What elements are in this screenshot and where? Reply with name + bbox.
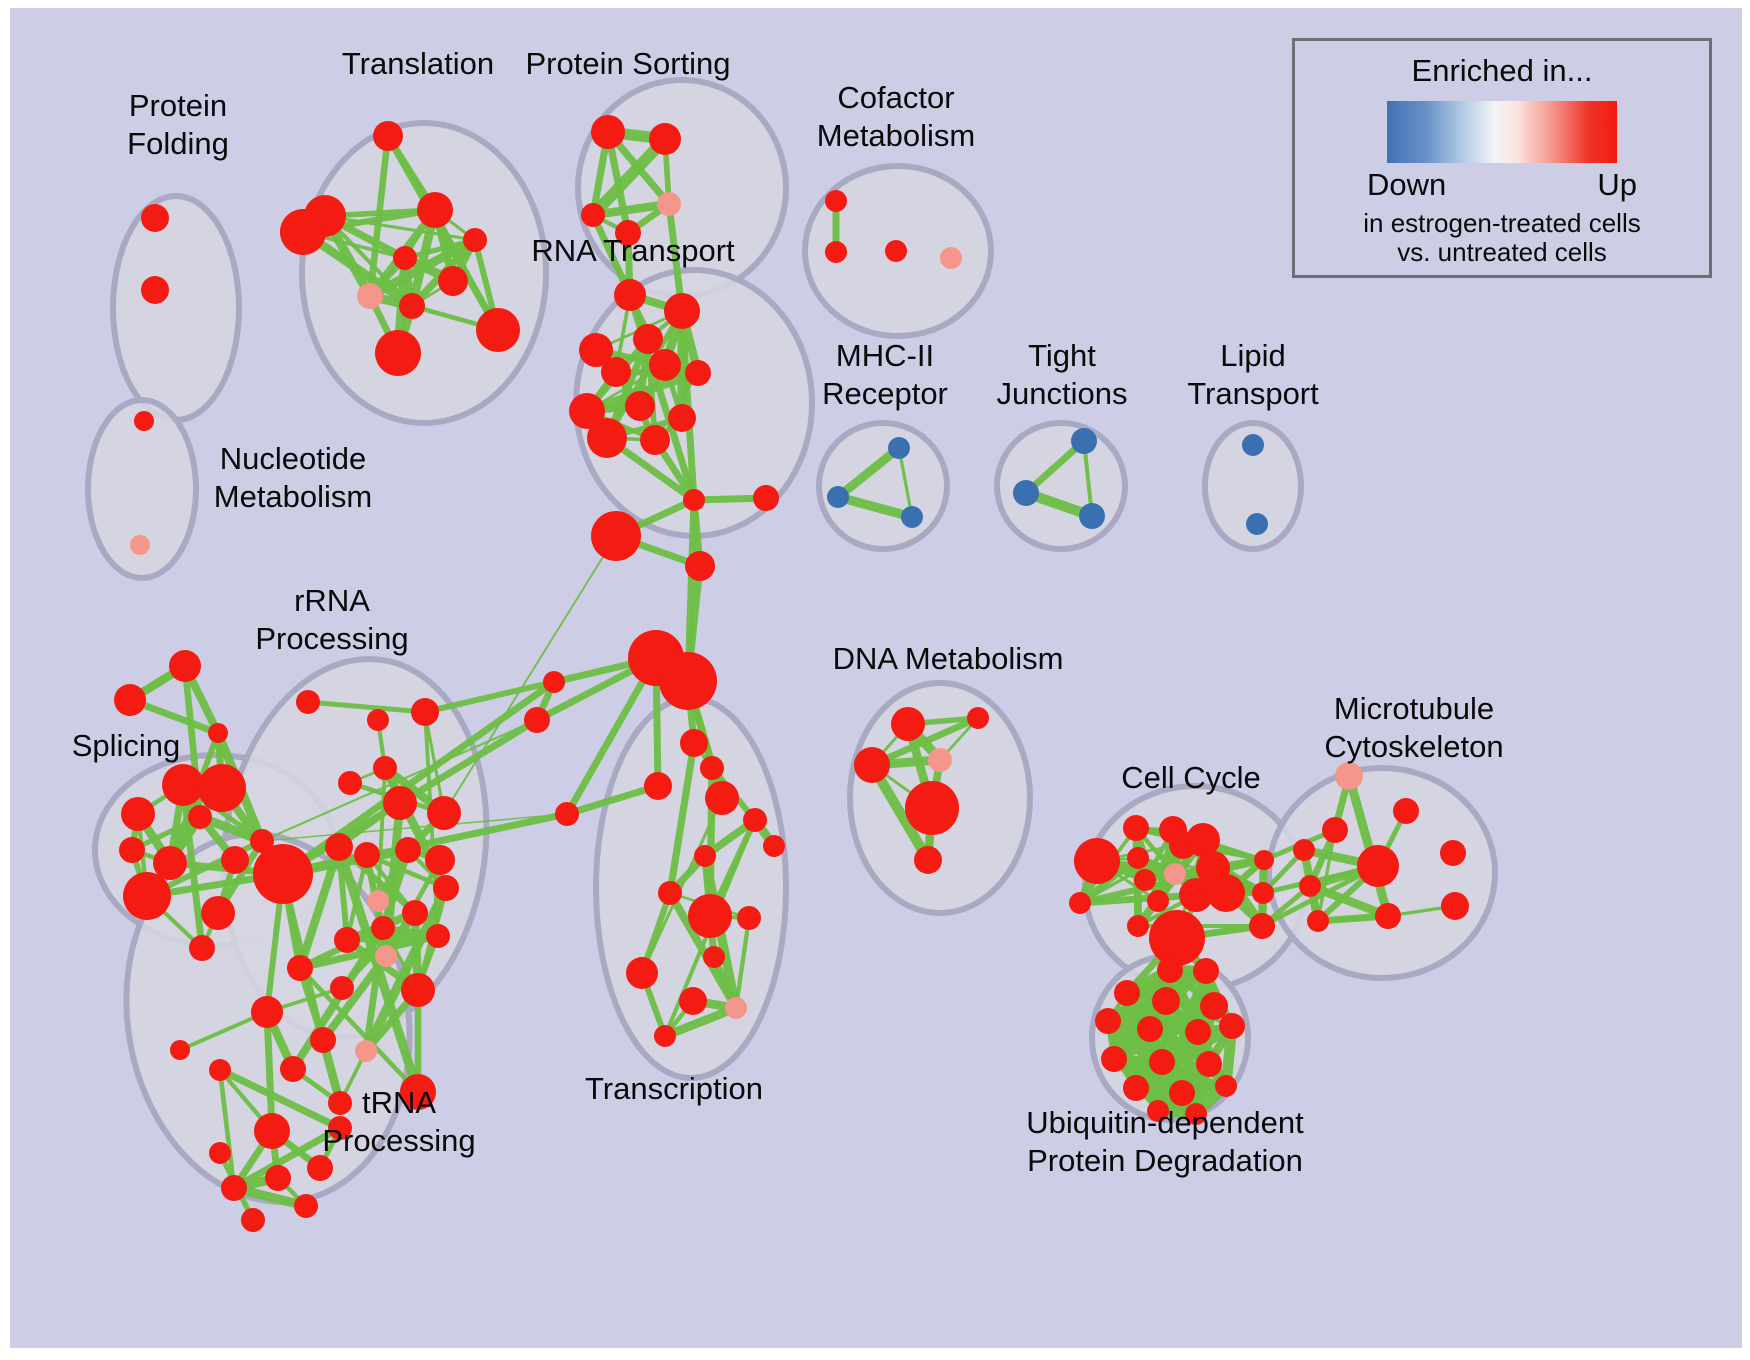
network-node (524, 707, 550, 733)
network-node (114, 684, 146, 716)
network-node (121, 797, 155, 831)
network-node (914, 846, 942, 874)
network-node (1215, 1075, 1237, 1097)
legend-title: Enriched in... (1295, 53, 1709, 89)
network-node (1149, 1049, 1175, 1075)
network-node (703, 946, 725, 968)
network-node (1200, 992, 1228, 1020)
network-node (1249, 913, 1275, 939)
network-node (1299, 875, 1321, 897)
network-node (433, 875, 459, 901)
network-node (123, 872, 171, 920)
network-node (1393, 798, 1419, 824)
network-node (743, 808, 767, 832)
network-node (296, 690, 320, 714)
network-node (198, 764, 246, 812)
network-node (555, 802, 579, 826)
network-node (265, 1165, 291, 1191)
network-node (325, 833, 353, 861)
network-node (1147, 890, 1169, 912)
network-node (625, 391, 655, 421)
network-node (1013, 480, 1039, 506)
network-node (649, 349, 681, 381)
network-node (633, 324, 663, 354)
network-node (1219, 1013, 1245, 1039)
network-node (659, 652, 717, 710)
cluster-label-transcription: Transcription (585, 1071, 763, 1106)
network-node (209, 1059, 231, 1081)
network-node (330, 976, 354, 1000)
network-node (1152, 987, 1180, 1015)
network-node (130, 535, 150, 555)
network-node (411, 698, 439, 726)
cluster-label-tight-junctions: TightJunctions (997, 338, 1128, 411)
network-node (438, 266, 468, 296)
network-node (426, 924, 450, 948)
cluster-label-splicing: Splicing (72, 728, 181, 763)
network-node (328, 1091, 352, 1115)
network-node (170, 1040, 190, 1060)
network-node (1149, 910, 1205, 966)
network-node (1185, 1019, 1211, 1045)
network-node (664, 293, 700, 329)
network-node (1071, 428, 1097, 454)
network-node (307, 1155, 333, 1181)
network-node (680, 729, 708, 757)
network-node (375, 330, 421, 376)
network-node (371, 916, 395, 940)
cluster-label-rna-transport: RNA Transport (531, 233, 735, 268)
network-node (395, 837, 421, 863)
network-node (901, 506, 923, 528)
network-node (1254, 850, 1274, 870)
network-node (1074, 838, 1120, 884)
network-node (591, 511, 641, 561)
network-node (657, 192, 681, 216)
network-node (357, 283, 383, 309)
network-node (280, 1056, 306, 1082)
network-node (401, 973, 435, 1007)
network-node (355, 1040, 377, 1062)
network-node (1440, 840, 1466, 866)
network-node (417, 192, 453, 228)
network-node (169, 650, 201, 682)
network-node (1196, 1051, 1222, 1077)
network-node (141, 276, 169, 304)
network-node (649, 123, 681, 155)
network-node (209, 1142, 231, 1164)
network-node (668, 404, 696, 432)
network-node (1157, 957, 1183, 983)
network-node (189, 935, 215, 961)
network-node (354, 842, 380, 868)
network-node (402, 900, 428, 926)
network-node (367, 709, 389, 731)
network-node (1095, 1008, 1121, 1034)
network-node (905, 781, 959, 835)
network-node (825, 190, 847, 212)
network-node (383, 786, 417, 820)
network-node (1357, 845, 1399, 887)
legend-caption: in estrogen-treated cells vs. untreated … (1295, 209, 1709, 267)
network-node (753, 485, 779, 511)
network-node (587, 418, 627, 458)
network-node (1375, 903, 1401, 929)
network-node (885, 240, 907, 262)
network-node (543, 671, 565, 693)
network-node (1114, 980, 1140, 1006)
network-node (940, 247, 962, 269)
network-node (725, 997, 747, 1019)
network-node (427, 796, 461, 830)
network-node (1322, 817, 1348, 843)
network-node (1246, 513, 1268, 535)
network-node (827, 486, 849, 508)
network-node (373, 121, 403, 151)
network-node (763, 835, 785, 857)
network-node (685, 360, 711, 386)
network-node (679, 987, 707, 1015)
network-node (134, 411, 154, 431)
network-node (688, 894, 732, 938)
cluster-label-microtubule-cytoskeleton: MicrotubuleCytoskeleton (1324, 691, 1503, 764)
network-node (891, 707, 925, 741)
network-node (694, 845, 716, 867)
cluster-label-cofactor-metabolism: CofactorMetabolism (817, 80, 976, 153)
network-node (601, 357, 631, 387)
network-node (375, 945, 397, 967)
network-node (581, 203, 605, 227)
network-node (208, 723, 228, 743)
cluster-label-protein-sorting: Protein Sorting (525, 46, 730, 81)
network-node (1134, 869, 1156, 891)
network-node (119, 837, 145, 863)
legend-color-gradient (1387, 101, 1617, 163)
network-node (658, 881, 682, 905)
network-node (254, 1113, 290, 1149)
network-node (700, 756, 724, 780)
network-node (1101, 1046, 1127, 1072)
network-node (591, 115, 625, 149)
network-node (640, 425, 670, 455)
network-node (221, 846, 249, 874)
network-node (373, 756, 397, 780)
network-node (1169, 1080, 1195, 1106)
network-node (221, 1175, 247, 1201)
network-node (393, 246, 417, 270)
network-node (1123, 815, 1149, 841)
cluster-label-nucleotide-metabolism: NucleotideMetabolism (214, 441, 373, 514)
figure-root: ProteinFoldingTranslationProtein Sorting… (0, 0, 1750, 1360)
network-node (1123, 1075, 1149, 1101)
network-node (626, 957, 658, 989)
network-node (1127, 847, 1149, 869)
cluster-label-dna-metabolism: DNA Metabolism (833, 641, 1064, 676)
network-node (241, 1208, 265, 1232)
cluster-ellipse-protein-folding (113, 196, 239, 420)
network-node (334, 927, 360, 953)
network-node (253, 844, 313, 904)
legend-panel: Enriched in... Down Up in estrogen-treat… (1292, 38, 1712, 278)
network-node (287, 955, 313, 981)
network-node (338, 771, 362, 795)
network-node (705, 781, 739, 815)
network-node (1127, 915, 1149, 937)
network-node (654, 1025, 676, 1047)
network-node (1079, 503, 1105, 529)
cluster-label-translation: Translation (342, 46, 494, 81)
network-node (399, 293, 425, 319)
legend-caption-line-2: vs. untreated cells (1295, 238, 1709, 267)
network-node (888, 437, 910, 459)
network-node (1441, 892, 1469, 920)
network-node (1293, 839, 1315, 861)
network-node (1069, 892, 1091, 914)
network-node (188, 805, 212, 829)
network-node (854, 747, 890, 783)
network-node (1207, 874, 1245, 912)
legend-endpoints: Down Up (1367, 167, 1637, 203)
network-node (967, 707, 989, 729)
network-node (425, 845, 455, 875)
network-node (1193, 958, 1219, 984)
network-node (683, 489, 705, 511)
network-node (1252, 882, 1274, 904)
network-node (644, 772, 672, 800)
cluster-label-lipid-transport: LipidTransport (1187, 338, 1319, 411)
network-node (201, 896, 235, 930)
cluster-ellipse-mhc-ii-receptor (819, 423, 947, 549)
network-node (1307, 910, 1329, 932)
legend-up-label: Up (1597, 167, 1637, 203)
network-node (280, 209, 326, 255)
network-node (614, 279, 646, 311)
network-node (141, 204, 169, 232)
network-node (685, 551, 715, 581)
network-node (162, 764, 204, 806)
cluster-label-ubiquitin-degradation: Ubiquitin-dependentProtein Degradation (1026, 1105, 1304, 1178)
network-node (1137, 1016, 1163, 1042)
cluster-label-cell-cycle: Cell Cycle (1121, 760, 1261, 795)
network-node (251, 996, 283, 1028)
legend-down-label: Down (1367, 167, 1446, 203)
network-node (367, 890, 389, 912)
cluster-label-mhc-ii-receptor: MHC-IIReceptor (822, 338, 948, 411)
network-node (737, 906, 761, 930)
network-node (1242, 434, 1264, 456)
network-node (1164, 863, 1186, 885)
cluster-label-rrna-processing: rRNAProcessing (255, 583, 408, 656)
network-node (294, 1194, 318, 1218)
network-node (463, 228, 487, 252)
legend-caption-line-1: in estrogen-treated cells (1295, 209, 1709, 238)
cluster-label-protein-folding: ProteinFolding (127, 88, 229, 161)
network-node (825, 241, 847, 263)
network-node (928, 748, 952, 772)
network-node (1335, 762, 1363, 790)
network-node (310, 1027, 336, 1053)
network-node (476, 308, 520, 352)
